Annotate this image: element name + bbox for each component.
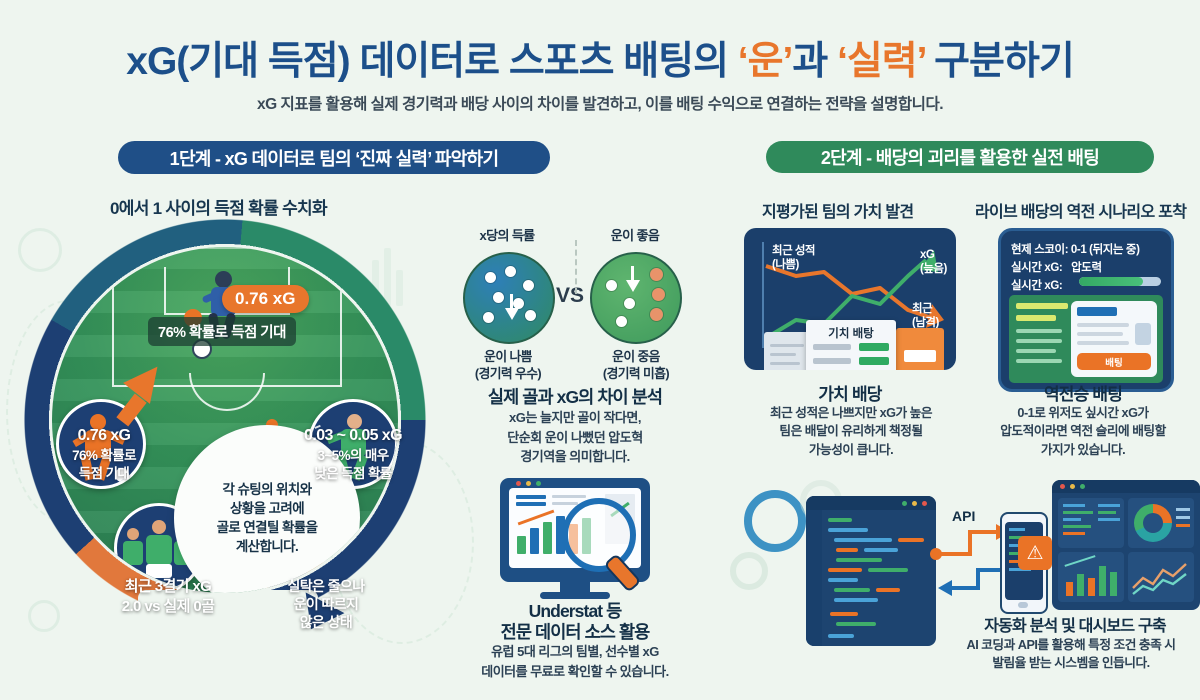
label-unlucky-3: 않은 상태	[256, 613, 396, 631]
value-bet-body-1: 최근 성적은 나쁘지만 xG가 높은	[770, 406, 932, 420]
live-bet-market-panel: 배팅	[1009, 295, 1163, 383]
automation-body-1: AI 코딩과 API를 활용해 특정 조건 충족 시	[967, 638, 1176, 652]
page-title-accent-skill: ‘실력’	[837, 40, 925, 83]
monitor-dot-green	[536, 481, 541, 486]
understat-body-line-2: 데이터를 무료로 확인할 수 있습니다.	[481, 664, 668, 679]
automation-body-2: 발림율 받는 시스벰을 인듭니다.	[992, 656, 1149, 670]
live-xg-value: 압도력	[1071, 262, 1102, 274]
label-recent-xg-2: 2.0 vs 실제 0골	[88, 597, 248, 617]
page-title-accent-luck: ‘운’	[738, 40, 793, 83]
label-recent-xg: 최근 3결기 xG 2.0 vs 실제 0골	[88, 577, 248, 616]
gear-icon-small	[730, 552, 768, 590]
label-unlucky-state: 실탁은 줄으나 운이 따르지 않은 상태	[256, 577, 396, 632]
center-line-1: 각 슈팅의 위치와	[222, 480, 311, 499]
pitch-xg-badge: 0.76 xG	[222, 285, 309, 313]
live-bet-body-2: 압도적이라면 역전 슬리에 배팅할	[1000, 424, 1166, 438]
middle-section-title: 실제 골과 xG의 차이 분석	[439, 384, 711, 409]
pitch-probability-chip: 76% 확률로 득점 기대	[148, 317, 296, 346]
label-unlucky-2: 운이 따르지	[256, 595, 396, 613]
understat-title-line-2: 전문 데이터 소스 활용	[439, 619, 711, 644]
luck-bad-caption: 운이 나쁨 (경기력 우수)	[452, 348, 564, 383]
chart-label-xg: xG (늪음)	[920, 248, 947, 277]
value-bet-card: 최근 성적 (나쁨) xG (늪음) 최근 (남격) 기치 배탕	[744, 228, 956, 370]
dashboard-tile-bars	[1058, 552, 1124, 602]
dash-dot-red	[1060, 484, 1065, 489]
understat-monitor-illustration	[500, 478, 650, 598]
live-score-label: 현제 스코이:	[1011, 244, 1068, 256]
center-line-3: 골로 연결틸 확률을	[217, 518, 318, 537]
live-xg-bar-label: 실시간 xG:	[1011, 277, 1062, 293]
automation-title: 자동화 분석 및 대시보드 구축	[950, 612, 1200, 636]
live-bet-slip-card[interactable]: 배팅	[1071, 301, 1157, 377]
live-bet-body-3: 가지가 있습니다.	[1041, 443, 1125, 457]
step-1-pill: 1단계 - xG 데이터로 팀의 ‘진짜 실력’ 파악하기	[118, 141, 550, 174]
luck-bad-caption-2: (경기력 우수)	[475, 366, 541, 381]
label-high-xg-value: 0.76 xG	[44, 427, 164, 445]
receipt-grey	[764, 332, 812, 370]
live-score-row: 현제 스코이: 0-1 (뒤지는 중)	[1011, 241, 1140, 257]
live-xg-label: 실시간 xG:	[1011, 262, 1062, 274]
page-subtitle: xG 지표를 활용해 실제 경기력과 배당 사이의 차이를 발견하고, 이를 배…	[0, 92, 1200, 114]
receipt-value-bet: 기치 배탕	[806, 320, 896, 370]
infographic-root: xG(기대 득점) 데이터로 스포츠 배팅의 ‘운’과 ‘실력’ 구분하기 xG…	[0, 0, 1200, 700]
page-title: xG(기대 득점) 데이터로 스포츠 배팅의 ‘운’과 ‘실력’ 구분하기	[0, 30, 1200, 86]
live-bet-phone: 현제 스코이: 0-1 (뒤지는 중) 실시간 xG: 압도력 실시간 xG:	[998, 228, 1174, 392]
page-title-part1: xG(기대 득점) 데이터로 스포츠 배팅의	[126, 40, 738, 83]
api-label: API	[952, 508, 975, 524]
vs-label-middle: VS	[556, 284, 584, 308]
value-bet-body-2: 팀은 배달이 유리하게 책정될	[779, 424, 922, 438]
alert-warning-icon: ⚠	[1018, 536, 1052, 570]
code-dot-yellow	[912, 501, 917, 506]
dash-dot-yellow	[1070, 484, 1075, 489]
mid-circle-left-title: x당의 득률	[452, 227, 562, 245]
dashboard-window	[1052, 480, 1200, 610]
code-editor-window	[806, 496, 936, 646]
live-bet-heading: 라이브 배당의 역전 시나리오 포착	[975, 198, 1186, 222]
live-bet-button[interactable]: 배팅	[1077, 353, 1151, 370]
page-title-part2: 구분하기	[925, 40, 1073, 83]
value-bet-heading: 지평가된 팀의 가치 발견	[762, 198, 913, 222]
dashboard-tile-area	[1128, 552, 1194, 602]
gear-icon-large	[744, 490, 806, 552]
monitor-dot-yellow	[526, 481, 531, 486]
chart-label-xg-1: xG	[920, 249, 934, 261]
code-dot-green	[902, 501, 907, 506]
value-bet-body: 최근 성적은 나쁘지만 xG가 높은 팀은 배달이 유리하게 책정될 가능성이 …	[726, 404, 976, 459]
chart-label-low-1: 최근	[912, 303, 932, 315]
label-low-xg: 0.03 ~ 0.05 xG 3~5%의 매우 낮은 득점 확률	[272, 427, 434, 482]
middle-section-body: xG는 늘지만 골이 작다면, 단순회 운이 나뻤던 압도혁 경기역을 의미합니…	[439, 408, 711, 467]
live-xg-progress-fill	[1079, 277, 1143, 286]
understat-body-line-1: 유럽 5대 리그의 팀별, 선수별 xG	[491, 644, 659, 659]
code-dot-red	[922, 501, 927, 506]
mid-circle-right-title: 운이 좋음	[580, 227, 690, 245]
label-high-xg-desc-1: 76% 확률로	[44, 447, 164, 465]
receipt-title: 기치 배탕	[806, 325, 896, 341]
live-xg-row: 실시간 xG: 압도력	[1011, 259, 1102, 275]
middle-body-line-1: xG는 늘지만 골이 작다면,	[509, 410, 641, 425]
dashboard-tile-list	[1058, 498, 1124, 548]
magnifier-icon	[562, 498, 636, 572]
chart-label-recent-1: 최근 성적	[772, 245, 815, 257]
middle-divider-dashed	[575, 240, 577, 294]
penalty-arc-line	[189, 373, 265, 411]
value-bet-title: 가치 배당	[744, 380, 956, 405]
receipt-orange	[896, 328, 944, 370]
live-xg-progress-bar	[1079, 277, 1161, 286]
dashboard-tile-donut	[1128, 498, 1194, 548]
pitch-mid-line	[52, 247, 398, 249]
xg-ring-diagram: ? VS 각 슈팅의 위치와 상황을 고려에 골로 연결틸 확률을 계산합니다.…	[10, 205, 440, 650]
luck-good-circle	[590, 252, 682, 344]
chart-label-recent-2: (나쁨)	[772, 259, 799, 271]
chart-label-low: 최근 (남격)	[912, 302, 939, 331]
label-low-xg-value: 0.03 ~ 0.05 xG	[272, 427, 434, 445]
chart-label-recent-form: 최근 성적 (나쁨)	[772, 244, 815, 273]
live-bet-title: 역전승 배팅	[998, 380, 1168, 405]
label-unlucky-1: 실탁은 줄으나	[256, 577, 396, 595]
step-2-pill: 2단계 - 배당의 괴리를 활용한 실전 배팅	[766, 141, 1154, 173]
dash-dot-green	[1080, 484, 1085, 489]
value-bet-body-3: 가능성이 큽니다.	[809, 443, 893, 457]
understat-body: 유럽 5대 리그의 팀별, 선수별 xG 데이터를 무료로 확인할 수 있습니다…	[415, 642, 735, 681]
luck-bad-caption-1: 운이 나쁨	[484, 349, 532, 364]
label-low-xg-desc-1: 3~5%의 매우	[272, 447, 434, 465]
chart-label-xg-2: (늪음)	[920, 263, 947, 275]
live-bet-body: 0-1로 위저도 싶시간 xG가 압도적이라면 역전 슬리에 배팅할 가지가 있…	[962, 404, 1200, 459]
page-title-mid: 과	[792, 40, 837, 83]
label-high-xg: 0.76 xG 76% 확률로 득점 기대	[44, 427, 164, 482]
middle-body-line-3: 경기역을 의미합니다.	[520, 449, 629, 464]
live-bet-body-1: 0-1로 위저도 싶시간 xG가	[1017, 406, 1148, 420]
automation-body: AI 코딩과 API를 활용해 특정 조건 충족 시 발림율 받는 시스벰을 인…	[940, 636, 1200, 673]
luck-good-caption-2: (경기력 미흡)	[603, 366, 669, 381]
label-recent-xg-1: 최근 3결기 xG	[88, 577, 248, 597]
label-low-xg-desc-2: 낮은 득점 확률	[272, 465, 434, 483]
live-score-value: 0-1 (뒤지는 중)	[1071, 244, 1140, 256]
monitor-dot-red	[516, 481, 521, 486]
middle-body-line-2: 단순회 운이 나뻤던 압도혁	[507, 430, 642, 445]
luck-bad-circle	[463, 252, 555, 344]
center-line-2: 상황을 고려에	[230, 499, 304, 518]
luck-good-caption: 운이 중음 (경기력 미흡)	[580, 348, 692, 383]
label-high-xg-desc-2: 득점 기대	[44, 465, 164, 483]
dashboard-area-chart	[1128, 552, 1194, 602]
center-line-4: 계산합니다.	[236, 537, 298, 556]
luck-good-caption-1: 운이 중음	[612, 349, 660, 364]
